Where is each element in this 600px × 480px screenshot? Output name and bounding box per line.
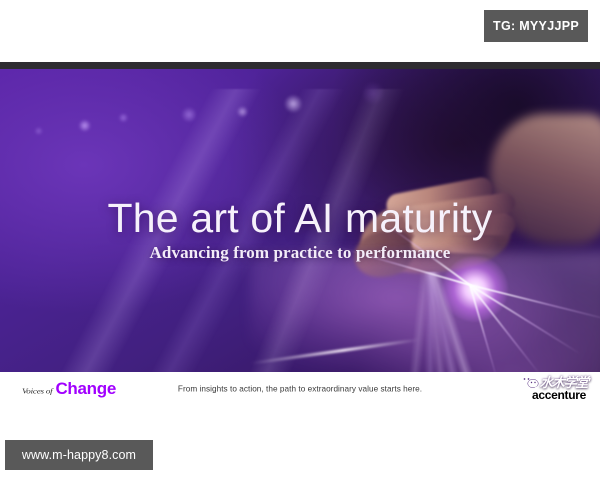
- slide-headline: The art of AI maturity: [0, 195, 600, 242]
- light-burst: [470, 284, 480, 294]
- telegram-watermark-text: TG: MYYJJPP: [493, 19, 579, 33]
- telegram-watermark-badge: TG: MYYJJPP: [484, 10, 588, 42]
- url-watermark-text: www.m-happy8.com: [22, 448, 136, 462]
- slide-subheadline: Advancing from practice to performance: [0, 243, 600, 263]
- letterbox-band: [0, 62, 600, 69]
- footer-tagline: From insights to action, the path to ext…: [0, 384, 600, 393]
- url-watermark-badge: www.m-happy8.com: [5, 440, 153, 470]
- slide-image-frame: The art of AI maturity Advancing from pr…: [0, 62, 600, 405]
- slide-footer-bar: Voices of Change From insights to action…: [0, 372, 600, 405]
- accenture-logo: accenture: [532, 388, 586, 402]
